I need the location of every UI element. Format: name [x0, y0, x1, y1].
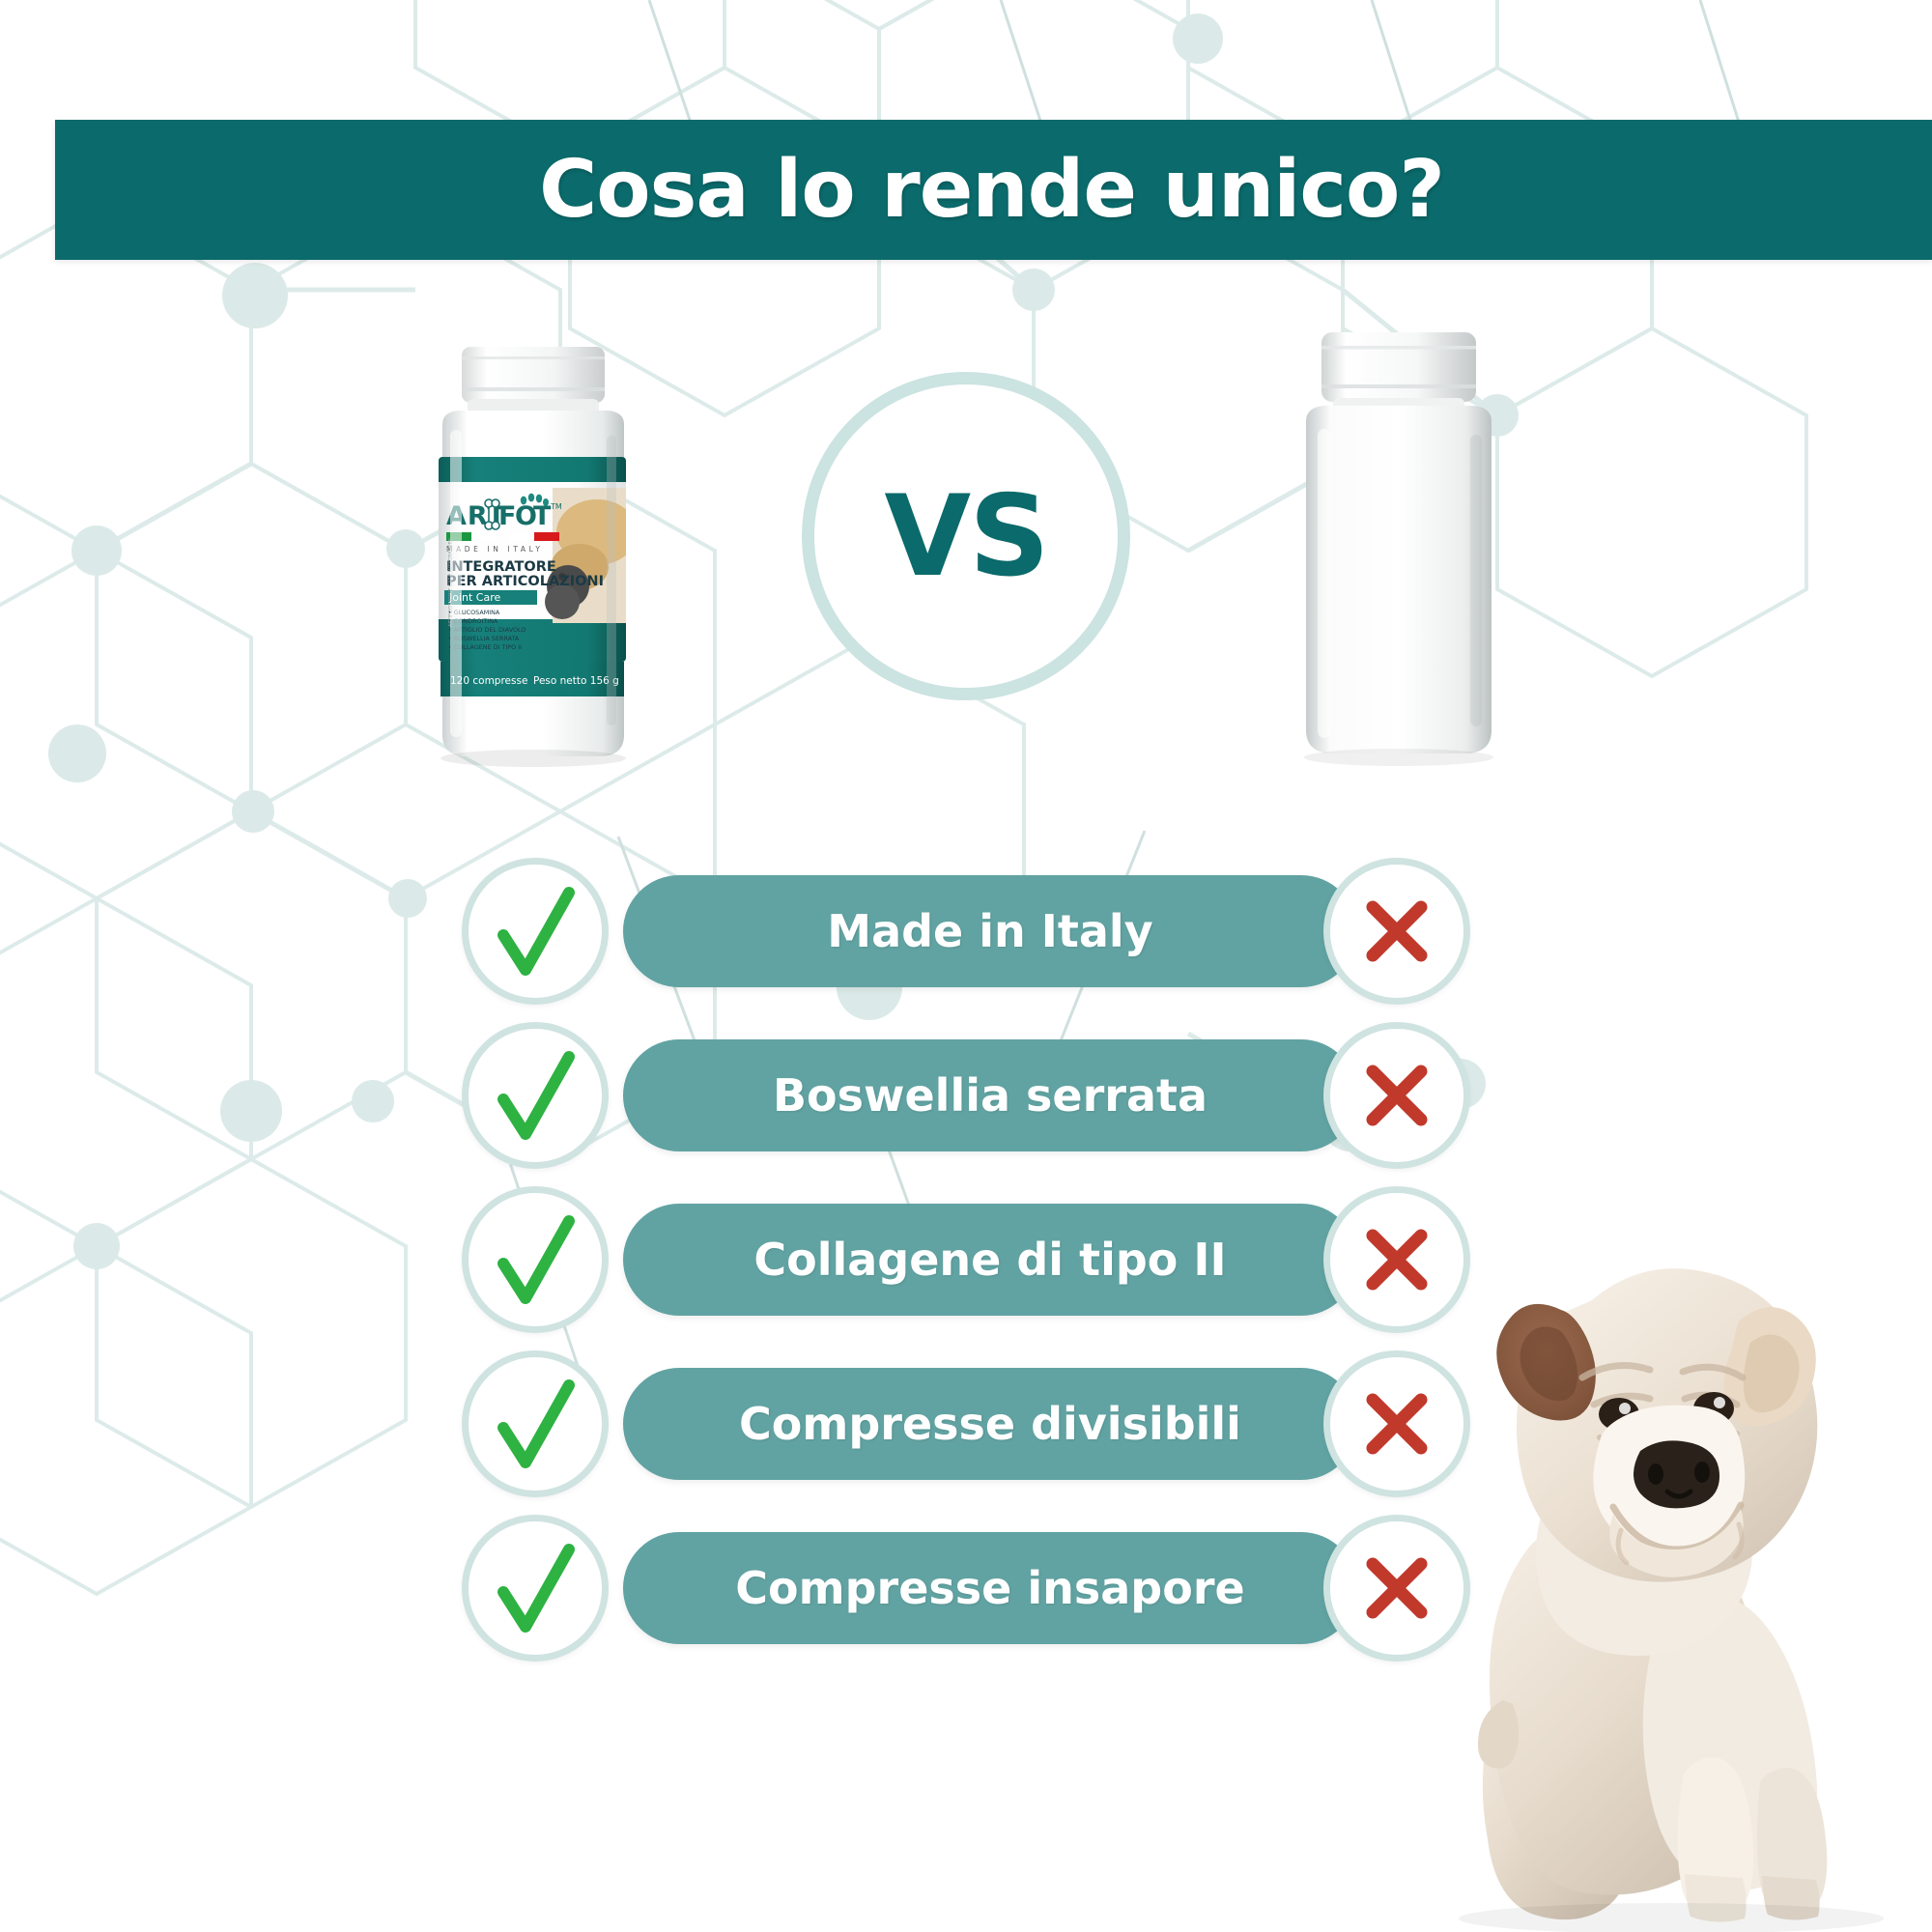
competitor-cross-0	[1323, 858, 1470, 1005]
artifoot-check-4	[462, 1515, 609, 1662]
svg-text:TM: TM	[550, 502, 562, 511]
svg-text:T: T	[533, 501, 552, 531]
svg-text:PER ARTICOLAZIONI: PER ARTICOLAZIONI	[446, 574, 604, 589]
product-comparison-visual: ART F O T TM	[0, 343, 1932, 797]
svg-text:INTEGRATORE: INTEGRATORE	[446, 559, 556, 575]
feature-pill-0: Made in Italy	[623, 875, 1357, 987]
feature-label: Collagene di tipo II	[753, 1234, 1226, 1286]
feature-label: Compresse insapore	[735, 1562, 1244, 1614]
cross-icon	[1361, 895, 1433, 967]
feature-pill-4: Compresse insapore	[623, 1532, 1357, 1644]
feature-label: Boswellia serrata	[773, 1069, 1207, 1122]
svg-text:120 compresse: 120 compresse	[450, 675, 527, 687]
header-banner: Cosa lo rende unico?	[55, 120, 1932, 260]
check-icon	[494, 1049, 577, 1142]
artifoot-bottle-image: ART F O T TM	[417, 343, 647, 768]
page-title: Cosa lo rende unico?	[539, 151, 1444, 230]
vs-badge: VS	[802, 372, 1130, 700]
comparison-table: Made in Italy Boswellia serrata	[0, 850, 1932, 1671]
cross-icon	[1361, 1060, 1433, 1131]
check-icon	[494, 885, 577, 978]
check-icon	[494, 1213, 577, 1306]
check-icon	[494, 1542, 577, 1634]
table-row: Compresse divisibili	[0, 1343, 1932, 1505]
cross-icon	[1361, 1552, 1433, 1624]
competitor-cross-4	[1323, 1515, 1470, 1662]
artifoot-check-0	[462, 858, 609, 1005]
vs-label: VS	[884, 471, 1047, 602]
table-row: Boswellia serrata	[0, 1014, 1932, 1177]
check-icon	[494, 1378, 577, 1470]
artifoot-check-1	[462, 1022, 609, 1169]
infographic-canvas: Cosa lo rende unico?	[0, 0, 1932, 1932]
competitor-bottle-image	[1285, 328, 1512, 768]
competitor-cross-3	[1323, 1350, 1470, 1497]
feature-label: Compresse divisibili	[739, 1398, 1241, 1450]
svg-text:Peso netto 156 g: Peso netto 156 g	[533, 675, 619, 687]
feature-pill-2: Collagene di tipo II	[623, 1204, 1357, 1316]
table-row: Made in Italy	[0, 850, 1932, 1012]
feature-pill-3: Compresse divisibili	[623, 1368, 1357, 1480]
competitor-cross-1	[1323, 1022, 1470, 1169]
artifoot-check-2	[462, 1186, 609, 1333]
cross-icon	[1361, 1224, 1433, 1295]
artifoot-check-3	[462, 1350, 609, 1497]
table-row: Collagene di tipo II	[0, 1179, 1932, 1341]
competitor-cross-2	[1323, 1186, 1470, 1333]
feature-pill-1: Boswellia serrata	[623, 1039, 1357, 1151]
cross-icon	[1361, 1388, 1433, 1460]
feature-label: Made in Italy	[827, 905, 1152, 957]
table-row: Compresse insapore	[0, 1507, 1932, 1669]
